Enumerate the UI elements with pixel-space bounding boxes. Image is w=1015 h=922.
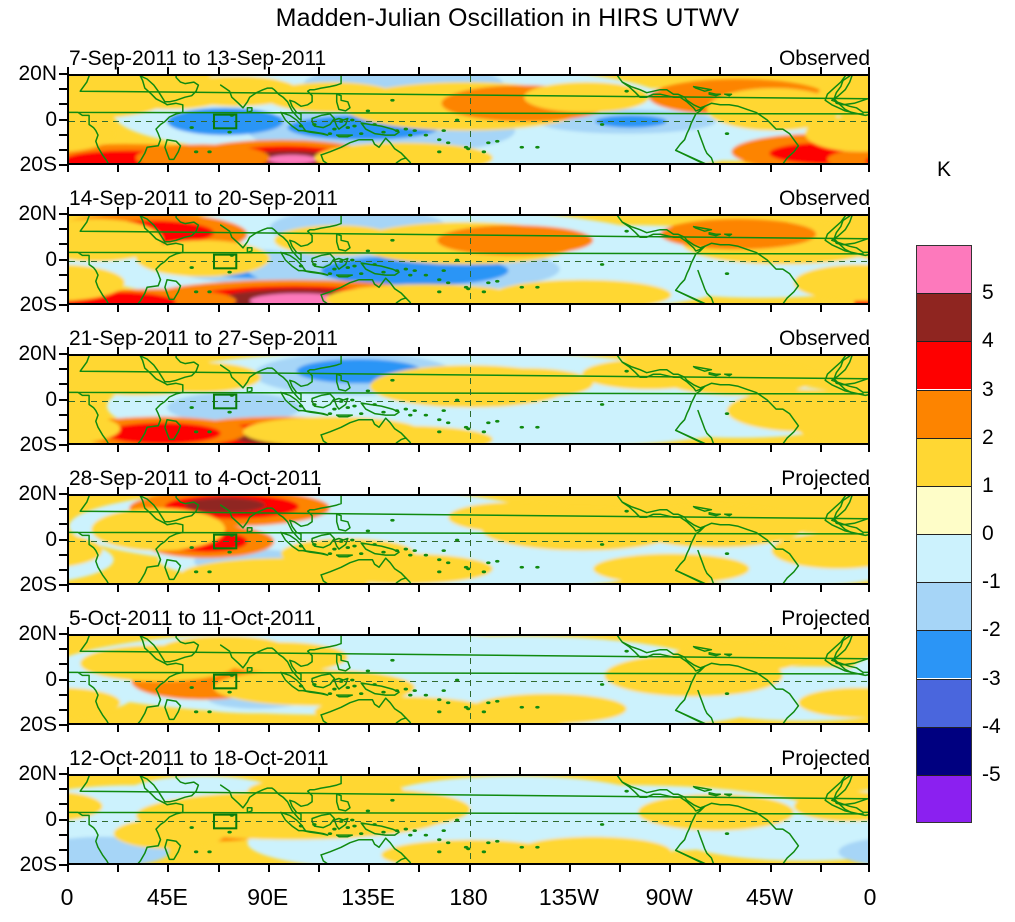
y-axis-tick [59, 383, 67, 385]
x-axis-tick-top [368, 207, 370, 214]
y-axis-tick [59, 289, 67, 291]
x-axis-tick [469, 305, 471, 312]
y-axis-tick [59, 414, 67, 416]
colorbar-band[interactable] [916, 534, 972, 582]
panel-period-label: 12-Oct-2011 to 18-Oct-2011 [69, 747, 329, 771]
x-axis-tick-top [569, 767, 571, 774]
x-axis-tick-top [519, 347, 521, 354]
x-axis-tick [418, 165, 420, 172]
colorbar-tick-label: -2 [982, 618, 1001, 642]
panel-period-label: 7-Sep-2011 to 13-Sep-2011 [69, 47, 326, 71]
x-axis-tick [820, 585, 822, 592]
x-axis-tick-top [167, 487, 169, 494]
panel-status-label: Projected [781, 607, 870, 631]
x-axis-tick [318, 165, 320, 172]
colorbar-tick-label: 2 [982, 426, 994, 450]
x-axis-tick-top [418, 767, 420, 774]
x-axis-tick [167, 585, 169, 592]
x-axis-tick [519, 165, 521, 172]
y-axis-tick [59, 819, 67, 821]
x-axis-tick-top [318, 487, 320, 494]
y-axis-tick [59, 119, 67, 121]
x-axis-tick-top [820, 207, 822, 214]
x-axis-tick-top [117, 67, 119, 74]
x-axis-tick-top [519, 627, 521, 634]
y-axis-tick [59, 554, 67, 556]
x-tick-label: 45E [147, 884, 188, 911]
x-axis-tick-top [868, 347, 870, 354]
x-axis-tick [569, 865, 571, 872]
colorbar-band[interactable] [916, 727, 972, 775]
y-axis-tick [59, 213, 67, 215]
x-axis-tick-top [669, 767, 671, 774]
x-axis-labels: 045E90E135E180135W90W45W0 [67, 884, 870, 914]
y-axis: 20N020S [5, 354, 67, 445]
x-axis-tick-top [770, 487, 772, 494]
x-axis-tick [167, 165, 169, 172]
panel-plot-area [67, 494, 870, 585]
x-axis-tick [719, 725, 721, 732]
x-axis-tick [820, 305, 822, 312]
x-axis-tick [770, 165, 772, 172]
y-axis-tick [59, 694, 67, 696]
y-axis-tick [59, 569, 67, 571]
x-axis-tick [117, 585, 119, 592]
x-axis-tick-top [67, 767, 69, 774]
x-axis-tick [218, 585, 220, 592]
x-axis-tick-top [268, 767, 270, 774]
x-axis-tick-top [469, 767, 471, 774]
x-axis-tick-top [669, 627, 671, 634]
x-tick-label: 45W [746, 884, 793, 911]
x-axis-tick-top [719, 67, 721, 74]
x-axis-tick [519, 445, 521, 452]
x-axis-tick-top [519, 487, 521, 494]
panel-plot-area [67, 634, 870, 725]
y-axis-tick [59, 648, 67, 650]
colorbar-band[interactable] [916, 390, 972, 438]
x-axis-tick-top [167, 627, 169, 634]
colorbar-band[interactable] [916, 630, 972, 678]
y-axis-tick [59, 88, 67, 90]
x-axis-tick [318, 305, 320, 312]
x-axis-tick [218, 165, 220, 172]
x-axis-tick [669, 725, 671, 732]
x-axis-tick-top [868, 627, 870, 634]
x-axis-tick [67, 725, 69, 732]
x-axis-tick-top [117, 347, 119, 354]
x-axis-tick-top [418, 487, 420, 494]
x-tick-label: 135W [539, 884, 599, 911]
colorbar-tick-label: -5 [982, 763, 1001, 787]
x-axis-tick-top [67, 207, 69, 214]
map-panel-1: 7-Sep-2011 to 13-Sep-2011Observed20N020S [67, 74, 870, 165]
x-axis-tick-top [669, 487, 671, 494]
x-axis-tick-top [569, 627, 571, 634]
y-axis-tick [59, 444, 67, 446]
panel-period-label: 21-Sep-2011 to 27-Sep-2011 [69, 327, 338, 351]
colorbar-band[interactable] [916, 341, 972, 389]
x-axis-tick-top [770, 347, 772, 354]
x-axis-tick-top [719, 487, 721, 494]
y-axis-tick [59, 353, 67, 355]
x-axis-tick-top [469, 207, 471, 214]
x-axis-tick [117, 865, 119, 872]
colorbar-tick-label: -4 [982, 715, 1001, 739]
y-axis-tick [59, 73, 67, 75]
x-axis-tick-top [719, 627, 721, 634]
colorbar-band[interactable] [916, 582, 972, 630]
x-axis-tick [368, 165, 370, 172]
x-axis-tick-top [368, 347, 370, 354]
x-axis-tick [318, 585, 320, 592]
x-axis-tick-top [318, 347, 320, 354]
x-axis-tick-top [619, 207, 621, 214]
figure-root: Madden-Julian Oscillation in HIRS UTWV 7… [0, 0, 1015, 922]
x-axis-tick-top [770, 767, 772, 774]
x-axis-tick-top [619, 67, 621, 74]
x-axis-tick-top [569, 347, 571, 354]
x-axis-tick [669, 865, 671, 872]
x-axis-tick [469, 585, 471, 592]
x-axis-tick [268, 865, 270, 872]
colorbar-band[interactable] [916, 775, 972, 823]
panel-plot-area [67, 354, 870, 445]
y-axis-tick [59, 788, 67, 790]
x-axis-tick [619, 585, 621, 592]
x-axis-tick [368, 445, 370, 452]
panel-period-label: 14-Sep-2011 to 20-Sep-2011 [69, 187, 338, 211]
x-axis-tick [868, 585, 870, 592]
x-axis-tick [669, 165, 671, 172]
x-axis-tick-top [67, 627, 69, 634]
x-axis-tick-top [619, 347, 621, 354]
x-axis-tick-top [418, 347, 420, 354]
colorbar-band[interactable] [916, 293, 972, 341]
y-axis-tick [59, 803, 67, 805]
y-axis: 20N020S [5, 214, 67, 305]
x-axis-tick-top [669, 67, 671, 74]
x-axis-tick-top [167, 207, 169, 214]
x-axis-tick [719, 165, 721, 172]
anomaly-field [69, 76, 870, 165]
x-axis-tick [770, 865, 772, 872]
x-axis-tick [770, 725, 772, 732]
y-axis-tick [59, 164, 67, 166]
x-axis-tick-top [868, 767, 870, 774]
colorbar-unit-label: K [916, 158, 972, 182]
x-axis-tick [268, 445, 270, 452]
y-axis-tick [59, 663, 67, 665]
x-axis-tick [368, 305, 370, 312]
x-axis-tick-top [820, 347, 822, 354]
x-axis-tick [368, 865, 370, 872]
x-tick-label: 90W [646, 884, 693, 911]
x-axis-tick [669, 585, 671, 592]
x-axis-tick [719, 585, 721, 592]
map-panel-6: 12-Oct-2011 to 18-Oct-2011Projected20N02… [67, 774, 870, 865]
x-axis-tick-top [719, 207, 721, 214]
y-axis-tick [59, 679, 67, 681]
x-axis-tick [820, 445, 822, 452]
x-axis-tick [868, 445, 870, 452]
x-tick-label: 135E [341, 884, 395, 911]
panel-status-label: Projected [781, 467, 870, 491]
y-axis-tick [59, 709, 67, 711]
map-panel-5: 5-Oct-2011 to 11-Oct-2011Projected20N020… [67, 634, 870, 725]
x-axis-tick-top [318, 627, 320, 634]
x-axis-tick-top [719, 767, 721, 774]
x-axis-tick [519, 585, 521, 592]
x-axis-tick-top [268, 487, 270, 494]
x-axis-tick-top [167, 347, 169, 354]
x-axis-tick-top [218, 207, 220, 214]
panel-period-label: 5-Oct-2011 to 11-Oct-2011 [69, 607, 315, 631]
x-axis-tick-top [519, 767, 521, 774]
x-axis-tick-top [268, 67, 270, 74]
x-tick-label: 90E [247, 884, 288, 911]
x-axis-tick-top [719, 347, 721, 354]
x-axis-tick-top [418, 67, 420, 74]
panel-plot-area [67, 214, 870, 305]
x-axis-tick-top [117, 767, 119, 774]
x-axis-tick-top [218, 487, 220, 494]
map-panel-2: 14-Sep-2011 to 20-Sep-2011Observed20N020… [67, 214, 870, 305]
y-axis-tick [59, 429, 67, 431]
x-axis-tick-top [469, 347, 471, 354]
x-tick-label: 180 [449, 884, 487, 911]
y-axis-tick [59, 134, 67, 136]
x-axis-tick [569, 585, 571, 592]
x-axis-tick-top [268, 627, 270, 634]
x-axis-tick [368, 725, 370, 732]
panel-period-label: 28-Sep-2011 to 4-Oct-2011 [69, 467, 322, 491]
x-axis-tick-top [820, 67, 822, 74]
x-axis-tick [67, 305, 69, 312]
x-axis-tick-top [418, 627, 420, 634]
colorbar-tick-label: -3 [982, 667, 1001, 691]
x-axis-tick [669, 305, 671, 312]
x-axis-tick-top [820, 627, 822, 634]
x-axis-tick-top [619, 627, 621, 634]
x-axis-tick-top [868, 487, 870, 494]
x-axis-tick [418, 445, 420, 452]
y-axis-tick [59, 523, 67, 525]
x-axis-tick-top [318, 67, 320, 74]
y-axis-tick [59, 849, 67, 851]
colorbar-band[interactable] [916, 245, 972, 293]
colorbar-band[interactable] [916, 438, 972, 486]
x-axis-tick-top [318, 767, 320, 774]
x-axis-tick [418, 585, 420, 592]
panel-plot-area [67, 774, 870, 865]
x-axis-tick [619, 305, 621, 312]
x-axis-tick [770, 305, 772, 312]
y-axis-tick [59, 539, 67, 541]
x-axis-tick [469, 725, 471, 732]
colorbar-tick-label: 3 [982, 378, 994, 402]
x-axis-tick [218, 305, 220, 312]
x-axis-tick [469, 165, 471, 172]
x-axis-tick [569, 445, 571, 452]
x-axis-tick [669, 445, 671, 452]
x-axis-tick-top [418, 207, 420, 214]
x-axis-tick-top [368, 67, 370, 74]
x-axis-tick-top [820, 487, 822, 494]
x-axis-tick-top [67, 487, 69, 494]
x-axis-tick-top [519, 207, 521, 214]
x-axis-tick-top [167, 67, 169, 74]
x-axis-tick [868, 865, 870, 872]
y-axis-tick [59, 304, 67, 306]
x-axis-tick [167, 305, 169, 312]
x-axis-tick-top [770, 67, 772, 74]
y-axis: 20N020S [5, 634, 67, 725]
panel-status-label: Observed [779, 187, 870, 211]
y-axis-tick [59, 633, 67, 635]
x-axis-tick [519, 305, 521, 312]
figure-title: Madden-Julian Oscillation in HIRS UTWV [0, 4, 1015, 33]
x-axis-tick [167, 445, 169, 452]
map-panel-4: 28-Sep-2011 to 4-Oct-2011Projected20N020… [67, 494, 870, 585]
panel-status-label: Observed [779, 47, 870, 71]
x-axis-tick-top [868, 67, 870, 74]
x-axis-tick-top [318, 207, 320, 214]
x-axis-tick [770, 445, 772, 452]
x-axis-tick-top [469, 67, 471, 74]
colorbar-tick-label: 5 [982, 281, 994, 305]
x-axis-tick [619, 445, 621, 452]
y-axis-tick [59, 149, 67, 151]
x-axis-tick [318, 445, 320, 452]
x-axis-tick [318, 725, 320, 732]
x-axis-tick [619, 725, 621, 732]
y-axis-tick [59, 368, 67, 370]
x-axis-tick-top [770, 207, 772, 214]
y-axis-tick [59, 773, 67, 775]
x-axis-tick [820, 725, 822, 732]
anomaly-field [69, 496, 870, 585]
x-axis-tick [167, 865, 169, 872]
y-axis-tick [59, 724, 67, 726]
x-axis-tick [868, 725, 870, 732]
x-axis-tick-top [268, 347, 270, 354]
map-panel-3: 21-Sep-2011 to 27-Sep-2011Observed20N020… [67, 354, 870, 445]
x-axis-tick [318, 865, 320, 872]
x-axis-tick-top [167, 767, 169, 774]
x-axis-tick [619, 865, 621, 872]
x-axis-tick-top [368, 767, 370, 774]
x-axis-tick [569, 305, 571, 312]
x-axis-tick [268, 165, 270, 172]
x-axis-tick-top [218, 627, 220, 634]
x-axis-tick [770, 585, 772, 592]
y-axis: 20N020S [5, 74, 67, 165]
x-axis-tick [569, 725, 571, 732]
x-axis-tick-top [669, 207, 671, 214]
x-axis-tick [218, 445, 220, 452]
x-axis-tick [167, 725, 169, 732]
colorbar[interactable] [916, 245, 972, 823]
x-axis-tick-top [117, 207, 119, 214]
y-axis-tick [59, 834, 67, 836]
colorbar-tick-label: -1 [982, 570, 1001, 594]
colorbar-tick-label: 0 [982, 522, 994, 546]
y-axis-tick [59, 228, 67, 230]
x-axis-tick-top [770, 627, 772, 634]
panel-status-label: Observed [779, 327, 870, 351]
y-axis: 20N020S [5, 494, 67, 585]
x-axis-tick-top [218, 67, 220, 74]
x-axis-tick [117, 165, 119, 172]
panel-plot-area [67, 74, 870, 165]
x-axis-tick-top [569, 487, 571, 494]
x-axis-tick [418, 725, 420, 732]
x-axis-tick [117, 725, 119, 732]
x-tick-label: 0 [61, 884, 74, 911]
x-axis-tick [117, 445, 119, 452]
y-axis-tick [59, 274, 67, 276]
x-axis-tick-top [268, 207, 270, 214]
x-axis-tick [619, 165, 621, 172]
y-axis-tick [59, 584, 67, 586]
x-axis-tick-top [619, 487, 621, 494]
x-axis-tick [67, 165, 69, 172]
x-axis-tick [868, 305, 870, 312]
y-axis-tick [59, 508, 67, 510]
x-axis-tick-top [67, 347, 69, 354]
x-axis-tick-top [519, 67, 521, 74]
x-axis-tick-top [820, 767, 822, 774]
x-axis-tick [469, 865, 471, 872]
x-axis-tick [268, 725, 270, 732]
x-axis-tick-top [569, 67, 571, 74]
x-axis-tick [418, 305, 420, 312]
x-axis-tick-top [469, 487, 471, 494]
x-axis-tick [519, 865, 521, 872]
x-axis-tick-top [117, 627, 119, 634]
x-axis-tick [719, 865, 721, 872]
x-axis-tick-top [117, 487, 119, 494]
colorbar-band[interactable] [916, 679, 972, 727]
x-axis-tick [519, 725, 521, 732]
y-axis-tick [59, 243, 67, 245]
x-axis-tick [418, 865, 420, 872]
y-axis-tick [59, 259, 67, 261]
x-axis-tick [469, 445, 471, 452]
y-axis-tick [59, 493, 67, 495]
x-axis-tick [268, 305, 270, 312]
x-axis-tick [67, 445, 69, 452]
x-axis-tick [569, 165, 571, 172]
x-axis-tick-top [469, 627, 471, 634]
anomaly-field [69, 216, 870, 305]
x-axis-tick-top [218, 767, 220, 774]
x-axis-tick [719, 305, 721, 312]
x-axis-tick-top [669, 347, 671, 354]
x-axis-tick [719, 445, 721, 452]
x-axis-tick [67, 585, 69, 592]
x-axis-tick [218, 865, 220, 872]
colorbar-band[interactable] [916, 486, 972, 534]
x-axis-tick [117, 305, 119, 312]
y-axis-tick [59, 399, 67, 401]
y-axis-tick [59, 103, 67, 105]
x-axis-tick-top [368, 627, 370, 634]
x-axis-tick [868, 165, 870, 172]
panel-status-label: Projected [781, 747, 870, 771]
colorbar-tick-label: 4 [982, 329, 994, 353]
